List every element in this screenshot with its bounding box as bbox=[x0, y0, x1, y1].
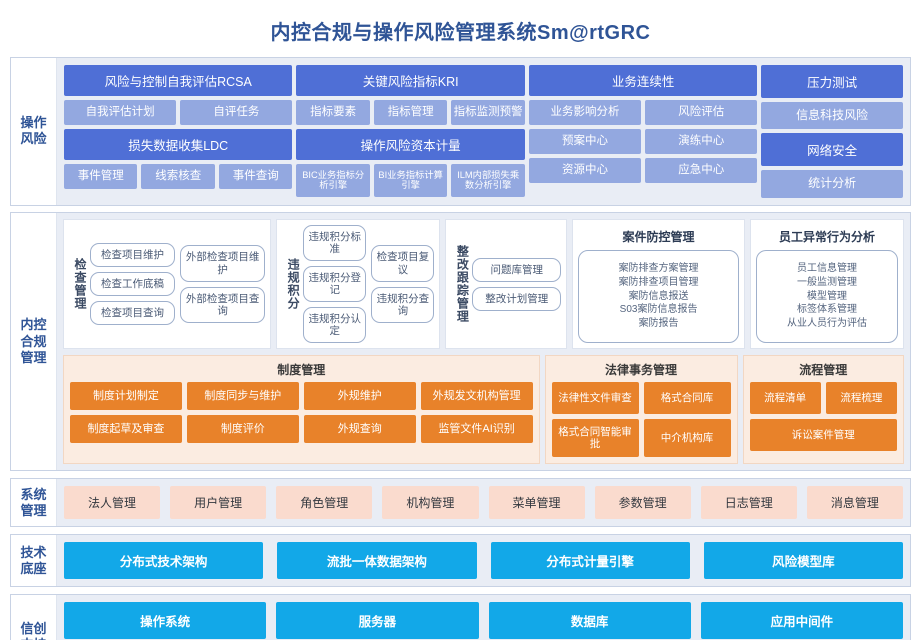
panel-header: 制度管理 bbox=[70, 360, 533, 382]
band-body-xinchuang-support: 操作系统 麒麟、统信、中科方德... 服务器 龙芯、兆芯、海思... 数据库 达… bbox=[57, 595, 910, 640]
process-button[interactable]: 诉讼案件管理 bbox=[750, 419, 897, 451]
system-item[interactable]: 机构管理 bbox=[382, 486, 478, 519]
policy-button[interactable]: 外规维护 bbox=[304, 382, 416, 410]
pill-item[interactable]: 外部检查项目维护 bbox=[180, 245, 265, 281]
op-item[interactable]: 风险评估 bbox=[645, 100, 757, 125]
band-label-line-1: 信创 bbox=[20, 621, 46, 637]
band-system-management: 系统 管理 法人管理 用户管理 角色管理 机构管理 菜单管理 参数管理 日志管理… bbox=[10, 478, 911, 527]
op-column-kri: 关键风险指标KRI 指标要素 指标管理 指标监测预警 操作风险资本计量 BIC业… bbox=[296, 65, 524, 198]
panel-vlabel: 违规积分 bbox=[282, 258, 299, 310]
band-tech-base: 技术 底座 分布式技术架构 流批一体数据架构 分布式计量引擎 风险模型库 bbox=[10, 534, 911, 587]
panel-header: 案件防控管理 bbox=[578, 225, 739, 250]
pill-item[interactable]: 违规积分标准 bbox=[303, 225, 366, 261]
panel-violation-points: 违规积分 违规积分标准 违规积分登记 违规积分认定 检查项目复议 违规积分查询 bbox=[276, 219, 440, 349]
op-item[interactable]: 自我评估计划 bbox=[64, 100, 176, 125]
pill-column: 问题库管理 整改计划管理 bbox=[472, 258, 561, 311]
policy-buttons: 制度计划制定 制度同步与维护 外规维护 外规发文机构管理 制度起草及审查 制度评… bbox=[70, 382, 533, 443]
op-item[interactable]: 指标管理 bbox=[374, 100, 447, 125]
operational-risk-grid: 风险与控制自我评估RCSA 自我评估计划 自评任务 损失数据收集LDC 事件管理… bbox=[64, 65, 903, 198]
tech-base-grid: 分布式技术架构 流批一体数据架构 分布式计量引擎 风险模型库 bbox=[64, 542, 903, 579]
panel-vlabel: 整改跟踪管理 bbox=[451, 245, 468, 323]
pill-item[interactable]: 检查项目维护 bbox=[90, 243, 175, 267]
pill-item[interactable]: 检查项目查询 bbox=[90, 301, 175, 325]
panel-policy-management: 制度管理 制度计划制定 制度同步与维护 外规维护 外规发文机构管理 制度起草及审… bbox=[63, 355, 540, 464]
system-item[interactable]: 菜单管理 bbox=[489, 486, 585, 519]
band-label-line-2: 管理 bbox=[20, 503, 46, 519]
band-body-system-management: 法人管理 用户管理 角色管理 机构管理 菜单管理 参数管理 日志管理 消息管理 bbox=[57, 479, 910, 526]
band-label-line-1: 内控 bbox=[20, 317, 46, 333]
panel-rectification-tracking: 整改跟踪管理 问题库管理 整改计划管理 bbox=[445, 219, 567, 349]
panel-vlabel: 检查管理 bbox=[69, 258, 86, 310]
policy-button[interactable]: 外规发文机构管理 bbox=[421, 382, 533, 410]
xinchuang-title[interactable]: 操作系统 bbox=[64, 602, 266, 639]
pill-column: 检查项目复议 违规积分查询 bbox=[371, 225, 434, 343]
tech-item[interactable]: 流批一体数据架构 bbox=[277, 542, 476, 579]
system-item[interactable]: 法人管理 bbox=[64, 486, 160, 519]
group-items-rcsa: 自我评估计划 自评任务 bbox=[64, 100, 292, 125]
panel-process-management: 流程管理 流程清单 流程梳理 诉讼案件管理 bbox=[743, 355, 904, 464]
pill-column: 检查项目维护 检查工作底稿 检查项目查询 bbox=[90, 243, 175, 325]
band-body-tech-base: 分布式技术架构 流批一体数据架构 分布式计量引擎 风险模型库 bbox=[57, 535, 910, 586]
internal-control-orange-panels: 制度管理 制度计划制定 制度同步与维护 外规维护 外规发文机构管理 制度起草及审… bbox=[63, 355, 904, 464]
panel-item-list[interactable]: 员工信息管理 一般监测管理 模型管理 标签体系管理 从业人员行为评估 bbox=[756, 250, 898, 343]
band-body-operational-risk: 风险与控制自我评估RCSA 自我评估计划 自评任务 损失数据收集LDC 事件管理… bbox=[57, 58, 910, 205]
list-item: 案防报告 bbox=[583, 317, 734, 331]
pill-item[interactable]: 检查项目复议 bbox=[371, 245, 434, 281]
list-item: 员工信息管理 bbox=[761, 262, 893, 276]
group-header-ldc[interactable]: 损失数据收集LDC bbox=[64, 129, 292, 160]
group-header-capital[interactable]: 操作风险资本计量 bbox=[296, 129, 524, 160]
pill-item[interactable]: 检查工作底稿 bbox=[90, 272, 175, 296]
pill-column: 违规积分标准 违规积分登记 违规积分认定 bbox=[303, 225, 366, 343]
policy-button[interactable]: 监管文件AI识别 bbox=[421, 415, 533, 443]
band-body-internal-control: 检查管理 检查项目维护 检查工作底稿 检查项目查询 外部检查项目维护 外部检查项… bbox=[57, 213, 910, 471]
band-internal-control: 内控 合规 管理 检查管理 检查项目维护 检查工作底稿 检查项目查询 bbox=[10, 212, 911, 472]
op-column-rcsa: 风险与控制自我评估RCSA 自我评估计划 自评任务 损失数据收集LDC 事件管理… bbox=[64, 65, 292, 198]
group-items-capital: BIC业务指标分析引擎 BI业务指标计算引擎 ILM内部损失乘数分析引擎 bbox=[296, 164, 524, 197]
pill-item[interactable]: 违规积分登记 bbox=[303, 266, 366, 302]
op-item[interactable]: 指标要素 bbox=[296, 100, 369, 125]
xinchuang-cell: 数据库 达梦、人大金仓、OcenBase... bbox=[489, 602, 691, 640]
op-item-stress-test[interactable]: 压力测试 bbox=[761, 65, 903, 98]
op-item-network-security[interactable]: 网络安全 bbox=[761, 133, 903, 166]
list-item: 案防信息报送 bbox=[583, 290, 734, 304]
group-items-bcm-3: 资源中心 应急中心 bbox=[529, 158, 757, 183]
panel-header: 流程管理 bbox=[750, 360, 897, 382]
process-button[interactable]: 流程梳理 bbox=[826, 382, 897, 414]
xinchuang-grid: 操作系统 麒麟、统信、中科方德... 服务器 龙芯、兆芯、海思... 数据库 达… bbox=[64, 602, 903, 640]
pill-columns: 问题库管理 整改计划管理 bbox=[472, 258, 561, 311]
band-operational-risk: 操作 风险 风险与控制自我评估RCSA 自我评估计划 自评任务 损失数据收集LD… bbox=[10, 57, 911, 206]
internal-control-panels: 检查管理 检查项目维护 检查工作底稿 检查项目查询 外部检查项目维护 外部检查项… bbox=[63, 219, 904, 349]
xinchuang-cell: 应用中间件 东方通、宝兰德、中创... bbox=[701, 602, 903, 640]
legal-button[interactable]: 中介机构库 bbox=[644, 419, 731, 457]
list-item: 标签体系管理 bbox=[761, 303, 893, 317]
op-item[interactable]: 线索核查 bbox=[141, 164, 214, 189]
policy-button[interactable]: 制度评价 bbox=[187, 415, 299, 443]
op-item[interactable]: BI业务指标计算引擎 bbox=[374, 164, 447, 197]
op-item[interactable]: ILM内部损失乘数分析引擎 bbox=[451, 164, 524, 197]
op-item[interactable]: 资源中心 bbox=[529, 158, 641, 183]
group-header-rcsa[interactable]: 风险与控制自我评估RCSA bbox=[64, 65, 292, 96]
list-item: 一般监测管理 bbox=[761, 276, 893, 290]
group-items-ldc: 事件管理 线索核查 事件查询 bbox=[64, 164, 292, 189]
band-label-xinchuang-support: 信创 支持 bbox=[11, 595, 57, 640]
band-label-line-1: 操作 bbox=[20, 115, 46, 131]
page-title: 内控合规与操作风险管理系统Sm@rtGRC bbox=[10, 8, 911, 57]
op-item[interactable]: 预案中心 bbox=[529, 129, 641, 154]
policy-button[interactable]: 制度同步与维护 bbox=[187, 382, 299, 410]
band-label-internal-control: 内控 合规 管理 bbox=[11, 213, 57, 471]
band-label-line-1: 系统 bbox=[20, 487, 46, 503]
band-label-line-1: 技术 bbox=[20, 545, 46, 561]
system-item[interactable]: 参数管理 bbox=[595, 486, 691, 519]
xinchuang-cell: 服务器 龙芯、兆芯、海思... bbox=[276, 602, 478, 640]
legal-button[interactable]: 格式合同智能审批 bbox=[552, 419, 639, 457]
band-label-line-2: 合规 bbox=[20, 334, 46, 350]
op-item[interactable]: 事件查询 bbox=[219, 164, 292, 189]
op-item[interactable]: 指标监测预警 bbox=[451, 100, 524, 125]
pill-columns: 检查项目维护 检查工作底稿 检查项目查询 外部检查项目维护 外部检查项目查询 bbox=[90, 243, 265, 325]
list-item: 模型管理 bbox=[761, 290, 893, 304]
group-items-bcm-2: 预案中心 演练中心 bbox=[529, 129, 757, 154]
xinchuang-cell: 操作系统 麒麟、统信、中科方德... bbox=[64, 602, 266, 640]
system-item[interactable]: 日志管理 bbox=[701, 486, 797, 519]
legal-button[interactable]: 法律性文件审查 bbox=[552, 382, 639, 414]
policy-button[interactable]: 制度起草及审查 bbox=[70, 415, 182, 443]
system-item[interactable]: 角色管理 bbox=[276, 486, 372, 519]
pill-column: 外部检查项目维护 外部检查项目查询 bbox=[180, 243, 265, 325]
pill-item[interactable]: 违规积分查询 bbox=[371, 287, 434, 323]
policy-button[interactable]: 外规查询 bbox=[304, 415, 416, 443]
op-item[interactable]: 演练中心 bbox=[645, 129, 757, 154]
op-item[interactable]: 业务影响分析 bbox=[529, 100, 641, 125]
list-item: 从业人员行为评估 bbox=[761, 317, 893, 331]
legal-button[interactable]: 格式合同库 bbox=[644, 382, 731, 414]
tech-item[interactable]: 分布式计量引擎 bbox=[491, 542, 690, 579]
pill-item[interactable]: 问题库管理 bbox=[472, 258, 561, 282]
pill-item[interactable]: 外部检查项目查询 bbox=[180, 287, 265, 323]
group-header-bcm[interactable]: 业务连续性 bbox=[529, 65, 757, 96]
panel-legal-affairs: 法律事务管理 法律性文件审查 格式合同库 格式合同智能审批 中介机构库 bbox=[545, 355, 738, 464]
band-label-system-management: 系统 管理 bbox=[11, 479, 57, 526]
op-item-it-risk[interactable]: 信息科技风险 bbox=[761, 102, 903, 129]
band-label-line-3: 管理 bbox=[20, 350, 46, 366]
xinchuang-title[interactable]: 数据库 bbox=[489, 602, 691, 639]
tech-item[interactable]: 分布式技术架构 bbox=[64, 542, 263, 579]
op-item-statistics[interactable]: 统计分析 bbox=[761, 170, 903, 197]
panel-header: 员工异常行为分析 bbox=[756, 225, 898, 250]
op-column-bcm: 业务连续性 业务影响分析 风险评估 预案中心 演练中心 资源中心 应急中心 bbox=[529, 65, 757, 198]
list-item: S03案防信息报告 bbox=[583, 303, 734, 317]
system-management-grid: 法人管理 用户管理 角色管理 机构管理 菜单管理 参数管理 日志管理 消息管理 bbox=[64, 486, 903, 519]
band-label-tech-base: 技术 底座 bbox=[11, 535, 57, 586]
band-label-line-2: 底座 bbox=[20, 561, 46, 577]
panel-employee-behavior-analysis: 员工异常行为分析 员工信息管理 一般监测管理 模型管理 标签体系管理 从业人员行… bbox=[750, 219, 904, 349]
system-item[interactable]: 用户管理 bbox=[170, 486, 266, 519]
pill-columns: 违规积分标准 违规积分登记 违规积分认定 检查项目复议 违规积分查询 bbox=[303, 225, 434, 343]
band-label-operational-risk: 操作 风险 bbox=[11, 58, 57, 205]
op-item[interactable]: 应急中心 bbox=[645, 158, 757, 183]
group-items-kri: 指标要素 指标管理 指标监测预警 bbox=[296, 100, 524, 125]
process-button[interactable]: 流程清单 bbox=[750, 382, 821, 414]
policy-button[interactable]: 制度计划制定 bbox=[70, 382, 182, 410]
band-label-line-2: 风险 bbox=[20, 131, 46, 147]
xinchuang-title[interactable]: 服务器 bbox=[276, 602, 478, 639]
band-xinchuang-support: 信创 支持 操作系统 麒麟、统信、中科方德... 服务器 龙芯、兆芯、海思...… bbox=[10, 594, 911, 640]
op-item[interactable]: 事件管理 bbox=[64, 164, 137, 189]
xinchuang-title[interactable]: 应用中间件 bbox=[701, 602, 903, 639]
panel-inspection-management: 检查管理 检查项目维护 检查工作底稿 检查项目查询 外部检查项目维护 外部检查项… bbox=[63, 219, 271, 349]
op-item[interactable]: BIC业务指标分析引擎 bbox=[296, 164, 369, 197]
system-item[interactable]: 消息管理 bbox=[807, 486, 903, 519]
panel-case-prevention: 案件防控管理 案防排查方案管理 案防排查项目管理 案防信息报送 S03案防信息报… bbox=[572, 219, 745, 349]
process-buttons: 流程清单 流程梳理 诉讼案件管理 bbox=[750, 382, 897, 451]
architecture-diagram-page: 内控合规与操作风险管理系统Sm@rtGRC 操作 风险 风险与控制自我评估RCS… bbox=[0, 0, 921, 640]
legal-buttons: 法律性文件审查 格式合同库 格式合同智能审批 中介机构库 bbox=[552, 382, 731, 457]
list-item: 案防排查方案管理 bbox=[583, 262, 734, 276]
group-header-kri[interactable]: 关键风险指标KRI bbox=[296, 65, 524, 96]
op-column-others: 压力测试 信息科技风险 网络安全 统计分析 bbox=[761, 65, 903, 198]
panel-item-list[interactable]: 案防排查方案管理 案防排查项目管理 案防信息报送 S03案防信息报告 案防报告 bbox=[578, 250, 739, 343]
list-item: 案防排查项目管理 bbox=[583, 276, 734, 290]
tech-item[interactable]: 风险模型库 bbox=[704, 542, 903, 579]
pill-item[interactable]: 违规积分认定 bbox=[303, 307, 366, 343]
op-item[interactable]: 自评任务 bbox=[180, 100, 292, 125]
pill-item[interactable]: 整改计划管理 bbox=[472, 287, 561, 311]
group-items-bcm-1: 业务影响分析 风险评估 bbox=[529, 100, 757, 125]
panel-header: 法律事务管理 bbox=[552, 360, 731, 382]
